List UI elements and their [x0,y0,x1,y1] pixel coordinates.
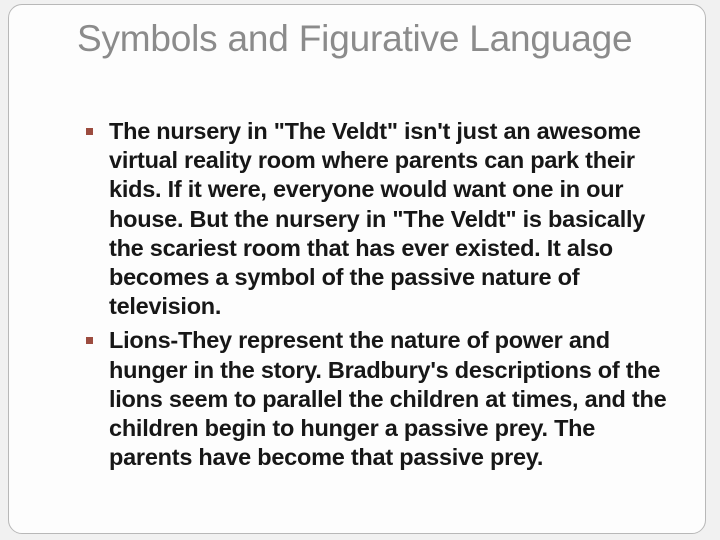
bullet-list-item: Lions-They represent the nature of power… [71,326,683,472]
slide-frame: Symbols and Figurative Language The nurs… [8,4,706,534]
slide-body-content: The nursery in "The Veldt" isn't just an… [71,117,683,472]
slide-canvas: Symbols and Figurative Language The nurs… [0,0,720,540]
bullet-item-text: The nursery in "The Veldt" isn't just an… [109,117,683,321]
bullet-list-item: The nursery in "The Veldt" isn't just an… [71,117,683,321]
square-bullet-icon [86,337,93,344]
bullet-item-text: Lions-They represent the nature of power… [109,326,683,472]
slide-title: Symbols and Figurative Language [77,15,657,62]
square-bullet-icon [86,128,93,135]
